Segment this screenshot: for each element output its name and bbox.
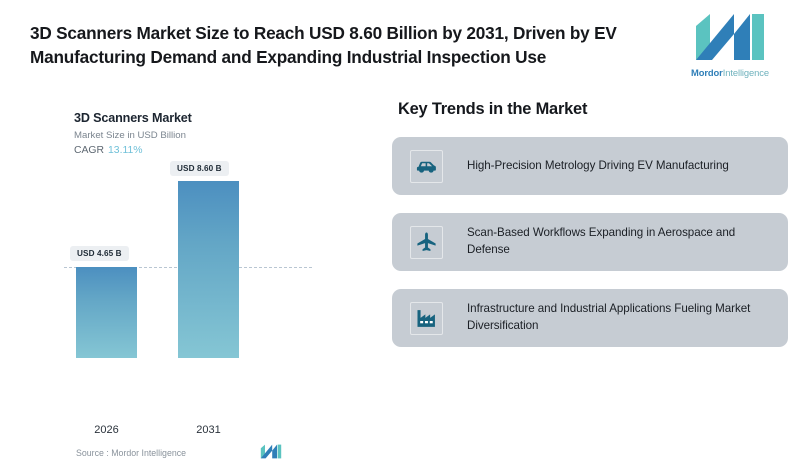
page-headline: 3D Scanners Market Size to Reach USD 8.6… [30,21,668,70]
factory-icon [410,302,443,335]
chart-subtitle: Market Size in USD Billion [74,130,186,141]
airplane-icon [410,226,443,259]
trend-card-text: Infrastructure and Industrial Applicatio… [467,301,774,335]
trend-card-aerospace-defense[interactable]: Scan-Based Workflows Expanding in Aerosp… [392,213,788,271]
bar-plot-area: USD 4.65 B USD 8.60 B 2026 2031 Source :… [18,158,358,358]
brand-wordmark: MordorIntelligence [691,67,769,78]
axis-tick-2031: 2031 [178,424,239,436]
cagr-label: CAGR [74,145,104,156]
brand-word-secondary: Intelligence [723,67,769,78]
chart-cagr: CAGR13.11% [74,145,143,156]
car-icon [410,150,443,183]
market-chart-card: 3D Scanners Market Market Size in USD Bi… [18,96,358,408]
trend-card-infrastructure-industrial[interactable]: Infrastructure and Industrial Applicatio… [392,289,788,347]
axis-tick-2026: 2026 [76,424,137,436]
bar-value-label-2026: USD 4.65 B [70,246,129,261]
chart-title: 3D Scanners Market [74,111,192,125]
trend-card-text: High-Precision Metrology Driving EV Manu… [467,158,729,175]
chart-source: Source : Mordor Intelligence [76,448,186,458]
mordor-intelligence-m-mark-icon [694,12,766,62]
bar-2026 [76,267,137,358]
brand-word-primary: Mordor [691,67,723,78]
trend-card-text: Scan-Based Workflows Expanding in Aerosp… [467,225,774,259]
source-mordor-m-mark-icon [260,444,282,459]
key-trends-panel: Key Trends in the Market High-Precision … [392,100,788,365]
bar-2031 [178,181,239,358]
bar-value-label-2031: USD 8.60 B [170,161,229,176]
key-trends-title: Key Trends in the Market [398,100,788,119]
cagr-value: 13.11% [108,145,142,156]
trend-card-ev-manufacturing[interactable]: High-Precision Metrology Driving EV Manu… [392,137,788,195]
brand-logo: MordorIntelligence [678,12,782,78]
page-header: 3D Scanners Market Size to Reach USD 8.6… [0,0,800,90]
